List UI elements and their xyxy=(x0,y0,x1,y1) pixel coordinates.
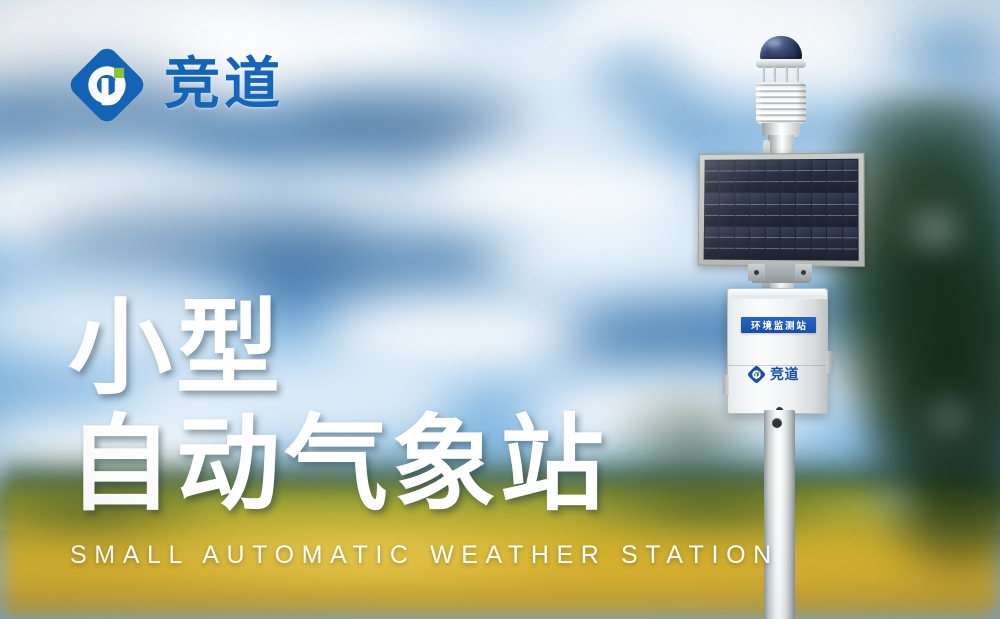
brand-name: 竞道 xyxy=(164,57,284,113)
solar-cell xyxy=(750,227,765,259)
panel-bracket-right xyxy=(795,264,812,281)
solar-panel-icon xyxy=(698,153,865,267)
panel-bracket-left xyxy=(748,264,765,281)
tree-light-gap-3 xyxy=(856,470,926,530)
tree-light-gap xyxy=(900,200,970,260)
mast-pole-lower xyxy=(764,410,795,619)
solar-cell xyxy=(766,160,780,192)
solar-cell xyxy=(720,161,734,193)
solar-cell xyxy=(705,226,719,258)
solar-cell xyxy=(827,227,842,260)
solar-cell xyxy=(751,160,765,192)
solar-cell xyxy=(750,193,764,225)
solar-cell xyxy=(812,193,827,225)
weather-station-banner: 环境监测站 竞道 xyxy=(0,0,1000,619)
control-box-brand: 竞道 xyxy=(747,365,799,384)
solar-cell xyxy=(812,160,826,192)
brand-logo[interactable]: 竞道 xyxy=(68,46,284,124)
headline-line-2: 自动气象站 xyxy=(68,412,608,516)
solar-cell xyxy=(781,193,796,225)
control-box-label: 环境监测站 xyxy=(741,317,816,333)
headline-line-1: 小型 xyxy=(68,296,608,400)
solar-cell xyxy=(781,227,796,260)
tree-light-gap-2 xyxy=(920,390,980,445)
jingdao-diamond-logo-icon xyxy=(747,365,766,384)
solar-cell xyxy=(705,161,719,193)
solar-cell xyxy=(735,193,749,225)
solar-cell xyxy=(796,193,811,225)
solar-cell xyxy=(843,193,858,226)
mast-pole-screw xyxy=(772,418,782,428)
solar-cell xyxy=(765,227,780,259)
control-box-latch-right xyxy=(826,351,833,373)
solar-cell xyxy=(720,227,734,259)
ultrasonic-weather-sensor-icon xyxy=(740,36,820,141)
control-box-brand-text: 竞道 xyxy=(770,368,799,382)
solar-cell xyxy=(766,193,780,225)
solar-cell xyxy=(843,227,858,260)
solar-cell-grid xyxy=(704,159,859,261)
solar-cell xyxy=(796,160,810,192)
solar-cell xyxy=(843,160,858,192)
solar-cell xyxy=(827,193,842,226)
subtitle-text: SMALL AUTOMATIC WEATHER STATION xyxy=(70,541,779,570)
radiation-shield xyxy=(756,82,806,124)
solar-cell xyxy=(781,160,795,192)
control-box-top-cover xyxy=(728,289,827,299)
solar-cell xyxy=(812,227,827,260)
solar-cell xyxy=(705,194,719,226)
solar-cell xyxy=(796,227,811,260)
control-box: 环境监测站 竞道 xyxy=(727,288,828,414)
jingdao-diamond-logo-icon xyxy=(68,46,146,124)
control-box-hinge-left xyxy=(723,375,729,395)
headline-block: 小型 自动气象站 xyxy=(68,296,608,516)
solar-cell xyxy=(735,160,749,192)
solar-cell xyxy=(827,160,842,192)
solar-cell xyxy=(735,227,749,259)
solar-cell xyxy=(720,193,734,225)
